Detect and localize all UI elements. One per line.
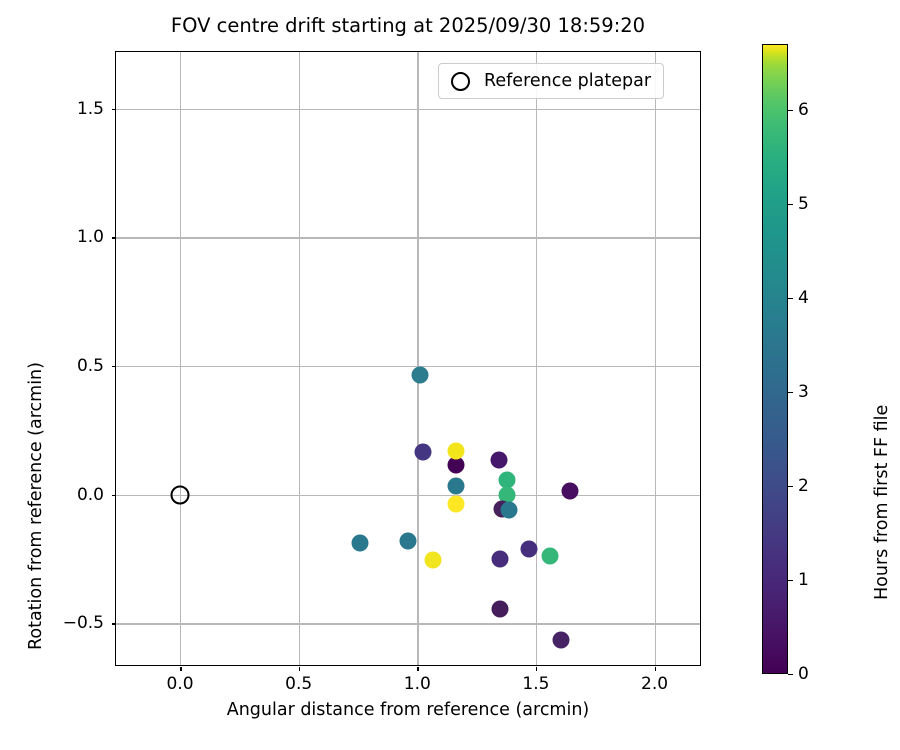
- x-axis-tick: [655, 667, 657, 671]
- colorbar-tick: [788, 298, 793, 299]
- x-axis-tick: [536, 667, 538, 671]
- scatter-point: [500, 502, 517, 519]
- y-axis-tick: [112, 237, 116, 239]
- y-axis-tick-label: 0.0: [77, 485, 104, 505]
- y-axis-tick: [112, 109, 116, 111]
- colorbar-tick-label: 0: [798, 664, 809, 684]
- y-axis-tick-label: 1.5: [77, 99, 104, 119]
- colorbar-tick-label: 1: [798, 570, 809, 590]
- scatter-point: [542, 548, 559, 565]
- legend-entry-label: Reference platepar: [484, 71, 651, 91]
- x-axis-tick: [180, 667, 182, 671]
- colorbar-tick: [788, 204, 793, 205]
- colorbar-tick-label: 3: [798, 382, 809, 402]
- scatter-point: [492, 550, 509, 567]
- y-axis-tick: [112, 495, 116, 497]
- y-axis-tick-label: 0.5: [77, 356, 104, 376]
- colorbar-gradient: [762, 44, 788, 674]
- scatter-point: [552, 631, 569, 648]
- colorbar-tick-label: 6: [798, 100, 809, 120]
- colorbar-tick: [788, 110, 793, 111]
- scatter-point: [491, 451, 508, 468]
- scatter-point: [411, 366, 428, 383]
- y-axis-label: Rotation from reference (arcmin): [26, 362, 46, 650]
- scatter-point: [424, 552, 441, 569]
- colorbar-tick: [788, 580, 793, 581]
- x-axis-tick-label: 2.0: [641, 674, 668, 694]
- scatter-point: [352, 535, 369, 552]
- x-axis-tick-label: 0.0: [167, 674, 194, 694]
- scatter-point: [415, 444, 432, 461]
- colorbar-label: Hours from first FF file: [872, 405, 892, 600]
- scatter-point: [448, 495, 465, 512]
- colorbar-tick: [788, 392, 793, 393]
- colorbar-tick-label: 4: [798, 288, 809, 308]
- y-axis-tick: [112, 366, 116, 368]
- scatter-point: [520, 540, 537, 557]
- legend: Reference platepar: [438, 63, 664, 99]
- scatter-point: [562, 482, 579, 499]
- x-axis-tick: [417, 667, 419, 671]
- y-axis-tick-label: −0.5: [63, 613, 104, 633]
- colorbar: 0123456: [762, 44, 788, 674]
- x-axis-tick-label: 0.5: [285, 674, 312, 694]
- colorbar-tick: [788, 486, 793, 487]
- x-axis-label: Angular distance from reference (arcmin): [115, 700, 701, 720]
- scatter-point: [448, 442, 465, 459]
- x-axis-tick: [299, 667, 301, 671]
- colorbar-tick: [788, 674, 793, 675]
- figure-canvas: FOV centre drift starting at 2025/09/30 …: [0, 0, 900, 750]
- y-axis-tick-label: 1.0: [77, 227, 104, 247]
- scatter-point: [448, 477, 465, 494]
- reference-platepar-point: [171, 485, 190, 504]
- page-title: FOV centre drift starting at 2025/09/30 …: [115, 14, 701, 37]
- scatter-point: [492, 601, 509, 618]
- reference-platepar-marker-icon: [451, 72, 470, 91]
- x-axis-tick-label: 1.5: [522, 674, 549, 694]
- colorbar-tick-label: 2: [798, 476, 809, 496]
- y-axis-tick: [112, 623, 116, 625]
- colorbar-tick-label: 5: [798, 194, 809, 214]
- x-axis-tick-label: 1.0: [404, 674, 431, 694]
- scatter-point: [399, 532, 416, 549]
- plot-area: 0.00.51.01.52.0−0.50.00.51.01.5: [115, 51, 701, 666]
- scatter-data-layer: [116, 52, 700, 665]
